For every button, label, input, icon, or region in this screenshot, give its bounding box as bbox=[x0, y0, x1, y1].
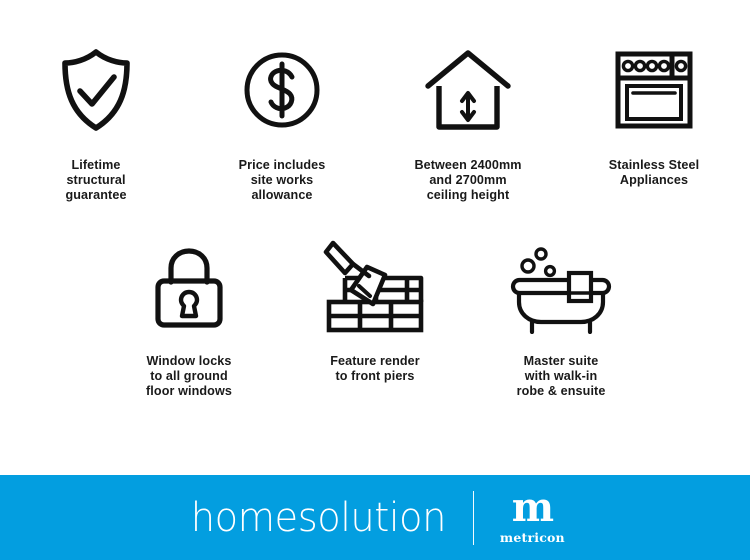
feature-ceiling-height: Between 2400mm and 2700mm ceiling height bbox=[375, 42, 561, 204]
feature-feature-render-front-piers: Feature render to front piers bbox=[282, 240, 468, 384]
trowel-bricks-icon bbox=[323, 240, 427, 336]
metricon-m-mark: m bbox=[512, 491, 553, 525]
feature-label: Lifetime structural guarantee bbox=[65, 158, 126, 204]
feature-stainless-steel-appliances: Stainless Steel Appliances bbox=[561, 42, 747, 188]
brand-lockup: homesolution m metricon bbox=[185, 491, 565, 545]
promo-feature-panel: Lifetime structural guarantee Price incl… bbox=[0, 0, 750, 560]
feature-master-suite: Master suite with walk-in robe & ensuite bbox=[468, 240, 654, 400]
features-area: Lifetime structural guarantee Price incl… bbox=[0, 0, 750, 475]
feature-price-includes-site-works: Price includes site works allowance bbox=[189, 42, 375, 204]
feature-lifetime-structural-guarantee: Lifetime structural guarantee bbox=[3, 42, 189, 204]
feature-label: Between 2400mm and 2700mm ceiling height bbox=[414, 158, 521, 204]
bathtub-icon bbox=[509, 240, 613, 336]
oven-icon bbox=[614, 42, 694, 138]
feature-label: Price includes site works allowance bbox=[239, 158, 326, 204]
features-row-2: Window locks to all ground floor windows bbox=[0, 240, 750, 400]
features-row-1: Lifetime structural guarantee Price incl… bbox=[0, 42, 750, 204]
house-ceiling-height-icon bbox=[423, 42, 513, 138]
homesolution-logo: homesolution bbox=[191, 498, 467, 538]
dollar-coin-icon bbox=[242, 42, 322, 138]
shield-check-icon bbox=[58, 42, 134, 138]
feature-label: Stainless Steel Appliances bbox=[609, 158, 699, 188]
brand-footer: homesolution m metricon bbox=[0, 475, 750, 560]
feature-window-locks: Window locks to all ground floor windows bbox=[96, 240, 282, 400]
padlock-icon bbox=[152, 240, 226, 336]
feature-label: Feature render to front piers bbox=[330, 354, 420, 384]
metricon-wordmark: metricon bbox=[500, 531, 565, 545]
metricon-logo: m metricon bbox=[474, 491, 565, 545]
vertical-divider-icon bbox=[473, 491, 474, 545]
feature-label: Window locks to all ground floor windows bbox=[146, 354, 232, 400]
feature-label: Master suite with walk-in robe & ensuite bbox=[517, 354, 606, 400]
